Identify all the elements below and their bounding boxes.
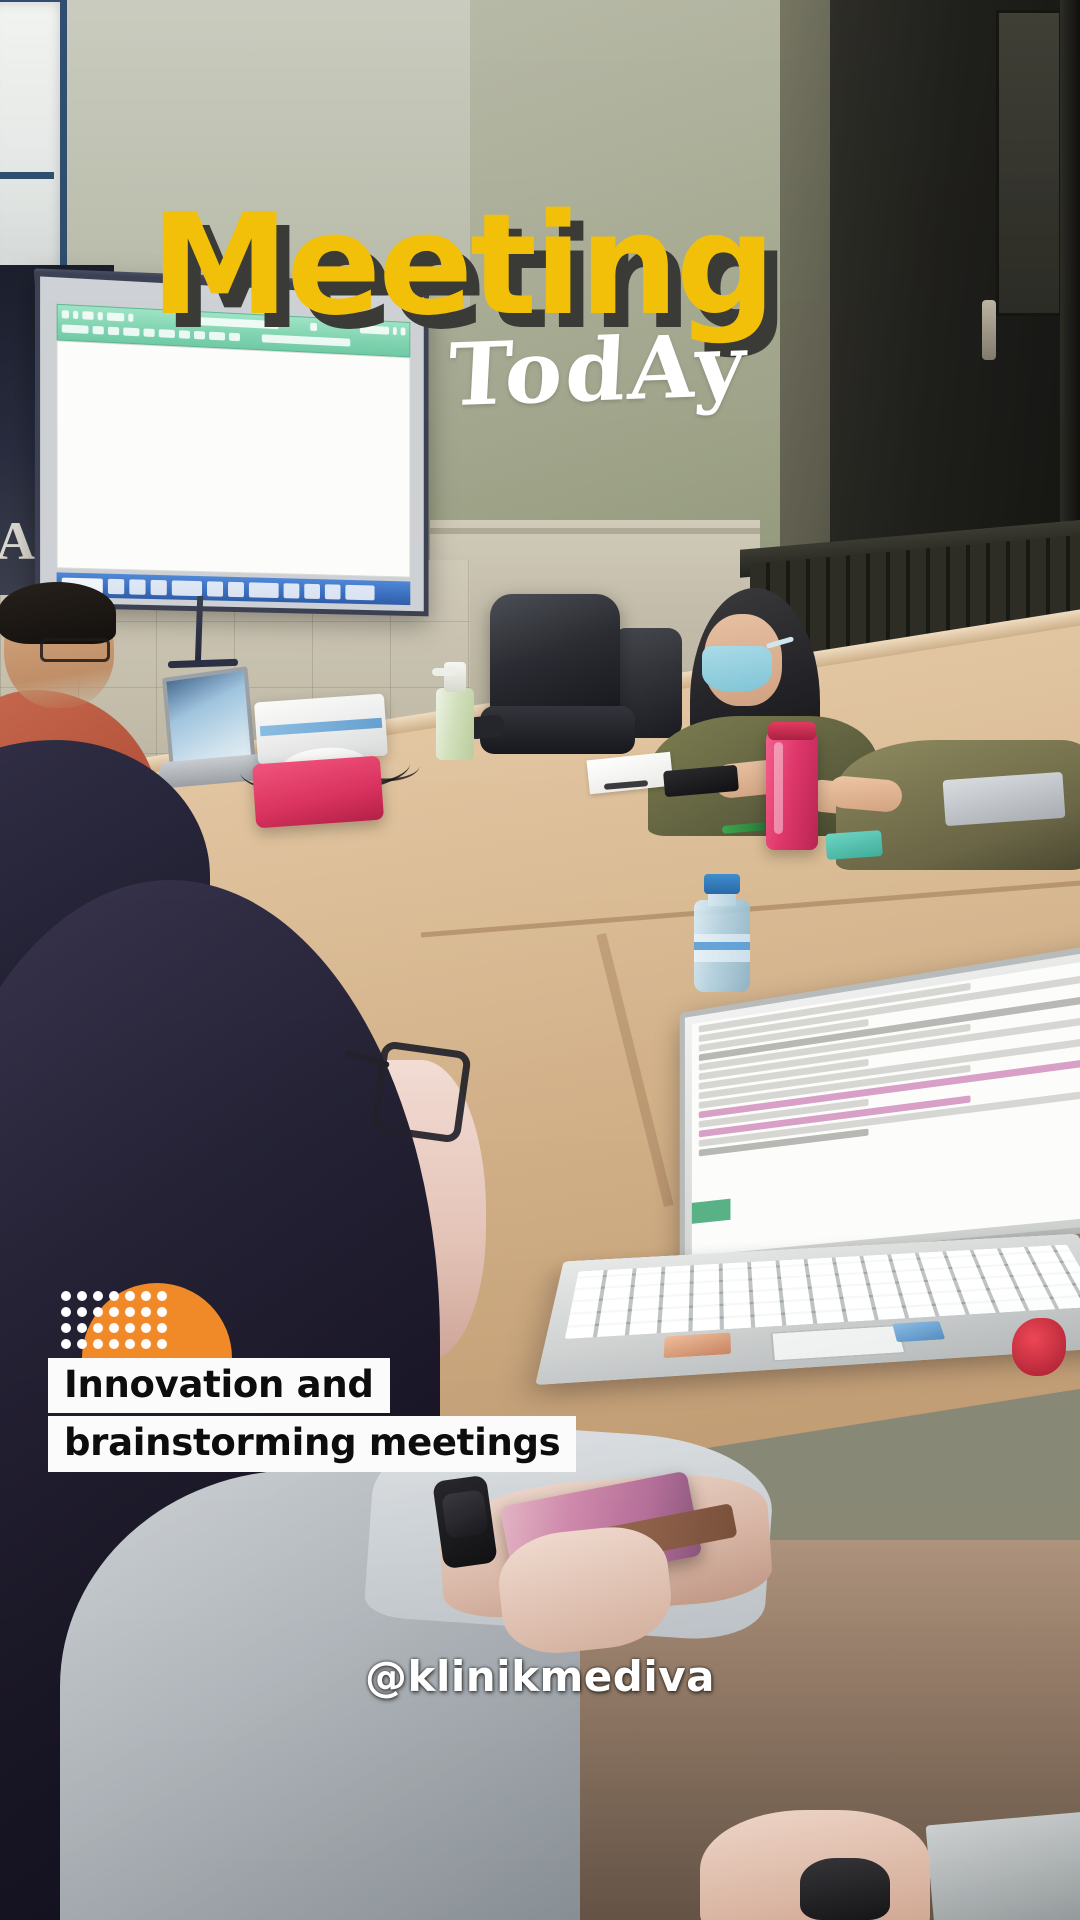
door-inner-panel [996,10,1062,316]
social-handle: @klinikmediva [0,1652,1080,1701]
laptop-sticker-orange [664,1333,731,1359]
laptop-keyboard [565,1245,1080,1339]
pink-tissue-pouch [252,756,384,829]
person-far-right-hand [827,775,904,813]
red-keychain-trinket [1012,1318,1066,1376]
title-meeting: Meeting [150,196,773,336]
door-handle [982,300,996,360]
teal-container [825,830,883,860]
pink-tumbler-lid [768,722,816,740]
title-today: TodAy [446,323,750,420]
computer-mouse [800,1858,890,1920]
person-right-face-mask [702,646,772,692]
laptop-trackpad [770,1325,906,1362]
foreground-person-glasses [370,1040,472,1144]
window-sash [0,172,54,179]
water-bottle-label-stripe [694,942,750,950]
caption-line-1: Innovation and [48,1358,390,1413]
laptop-screen-green-bar [692,1199,731,1224]
water-bottle-cap [704,874,740,894]
caption-block: Innovation and brainstorming meetings [48,1290,576,1472]
person-left-hair [0,582,116,644]
wristwatch-face [441,1489,489,1538]
bottom-right-laptop [926,1811,1080,1920]
laptop-main-screen-content [692,961,1080,1257]
office-chair-back [490,594,620,724]
sanitizer-nozzle [432,668,456,676]
brand-logo-mark [52,1290,222,1358]
dot-grid-icon [58,1288,170,1352]
sanitizer-bottle [436,688,474,760]
projected-document-area [57,340,411,577]
tablet-device [943,772,1066,826]
caption-line-2: brainstorming meetings [48,1416,576,1471]
wainscot-trim-line [430,528,760,534]
sanitizer-pump [444,662,466,692]
laptop-sticker-blue [892,1321,945,1342]
window [0,0,67,299]
pink-tumbler-highlight [774,742,783,834]
story-canvas: A · [0,0,1080,1920]
person-left-glasses [40,638,110,662]
